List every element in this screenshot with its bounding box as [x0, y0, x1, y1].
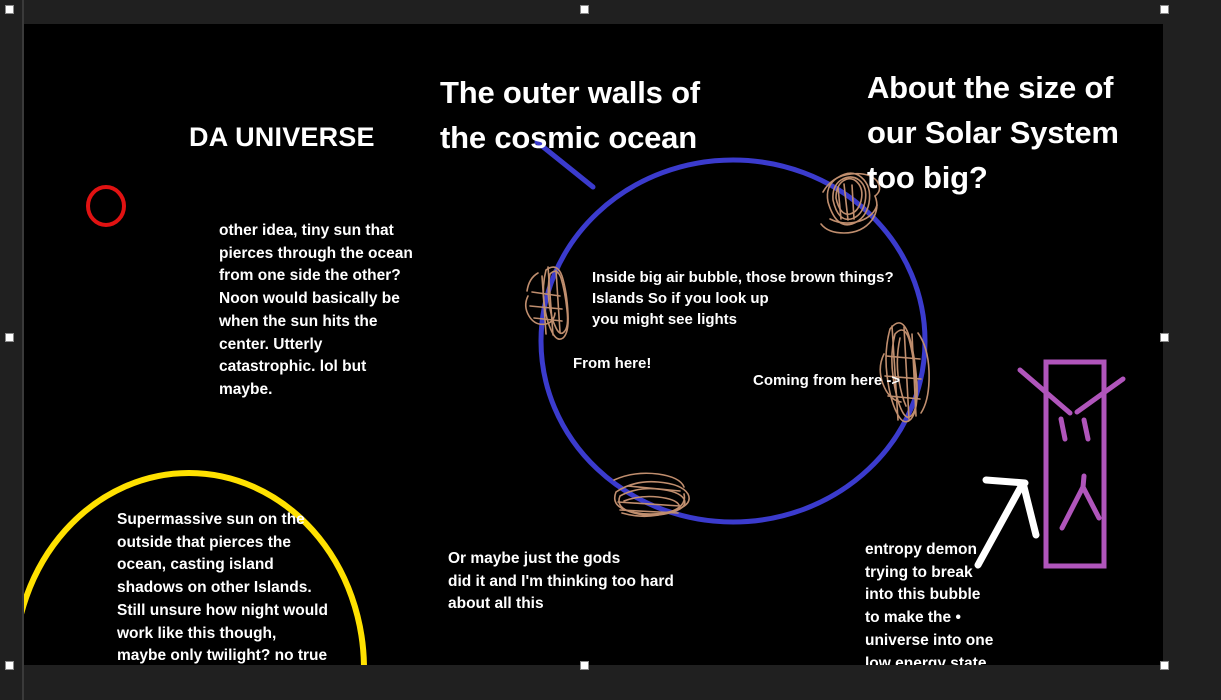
purple-entropy-demon-rect	[1046, 362, 1104, 566]
note-inside-big-air-bubble[interactable]: Inside big air bubble, those brown thing…	[592, 267, 932, 330]
blue-cosmic-ocean-circle	[541, 160, 925, 522]
note-supermassive-sun[interactable]: Supermassive sun on the outside that pie…	[117, 509, 367, 665]
selection-handle-bottom-middle[interactable]	[580, 661, 589, 670]
editor-canvas-area: DA UNIVERSE The outer walls of the cosmi…	[0, 0, 1221, 700]
note-coming-from-here[interactable]: Coming from here ->	[753, 370, 933, 391]
selection-handle-top-left[interactable]	[5, 5, 14, 14]
red-tiny-sun-circle	[88, 187, 124, 225]
selection-handle-top-right[interactable]	[1160, 5, 1169, 14]
selection-handle-top-middle[interactable]	[580, 5, 589, 14]
heading-outer-walls[interactable]: The outer walls of the cosmic ocean	[440, 70, 740, 160]
title-da-universe[interactable]: DA UNIVERSE	[189, 120, 449, 154]
selection-handle-bottom-left[interactable]	[5, 661, 14, 670]
note-tiny-sun[interactable]: other idea, tiny sun that pierces throug…	[219, 220, 434, 402]
brown-island-scribble-left	[526, 267, 568, 339]
note-maybe-gods[interactable]: Or maybe just the gods did it and I'm th…	[448, 548, 708, 616]
note-entropy-demon[interactable]: entropy demon trying to break into this …	[865, 539, 1045, 665]
purple-entropy-demon-face	[1020, 370, 1123, 528]
note-from-here[interactable]: From here!	[573, 353, 733, 374]
brown-island-scribble-bottom	[614, 473, 689, 516]
selection-handle-bottom-right[interactable]	[1160, 661, 1169, 670]
slide-canvas[interactable]: DA UNIVERSE The outer walls of the cosmi…	[24, 24, 1163, 665]
selection-handle-middle-left[interactable]	[5, 333, 14, 342]
selection-handle-middle-right[interactable]	[1160, 333, 1169, 342]
heading-solar-system-size[interactable]: About the size of our Solar System too b…	[867, 65, 1163, 200]
editor-left-rail	[22, 0, 24, 700]
